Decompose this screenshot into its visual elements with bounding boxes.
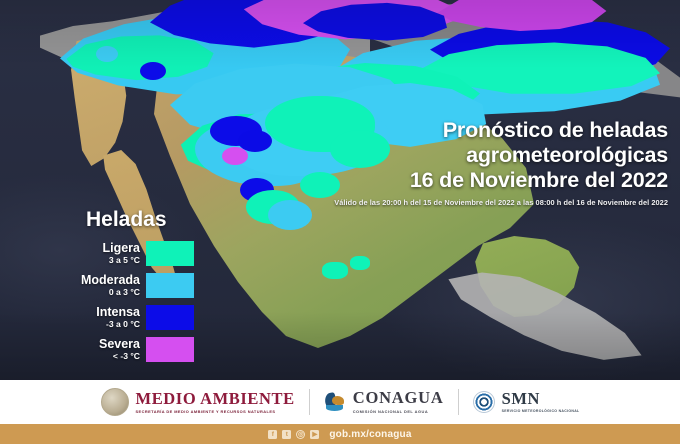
legend-swatch-ligera bbox=[146, 241, 194, 266]
frost-zone-ligera bbox=[350, 256, 370, 270]
legend-swatch-moderada bbox=[146, 273, 194, 298]
logo-subtitle: SECRETARÍA DE MEDIO AMBIENTE Y RECURSOS … bbox=[136, 410, 295, 414]
frost-zone-severa bbox=[222, 147, 248, 165]
infographic-root: Pronóstico de heladas agrometeorológicas… bbox=[0, 0, 680, 444]
logo-conagua[interactable]: CONAGUA COMISIÓN NACIONAL DEL AGUA bbox=[310, 390, 458, 414]
logo-medio-ambiente[interactable]: MEDIO AMBIENTE SECRETARÍA DE MEDIO AMBIE… bbox=[87, 388, 309, 416]
forecast-title-block: Pronóstico de heladas agrometeorológicas… bbox=[328, 118, 668, 207]
legend-item-ligera: Ligera 3 a 5 °C bbox=[62, 241, 194, 266]
website-url[interactable]: gob.mx/conagua bbox=[329, 429, 411, 440]
legend-range: < -3 °C bbox=[62, 351, 140, 361]
conagua-water-icon bbox=[324, 391, 346, 413]
legend-item-intensa: Intensa -3 a 0 °C bbox=[62, 305, 194, 330]
legend-range: -3 a 0 °C bbox=[62, 319, 140, 329]
title-line-1: Pronóstico de heladas bbox=[328, 118, 668, 143]
institutional-logo-bar: MEDIO AMBIENTE SECRETARÍA DE MEDIO AMBIE… bbox=[0, 380, 680, 424]
logo-title: SMN bbox=[502, 391, 580, 408]
title-date: 16 de Noviembre del 2022 bbox=[328, 168, 668, 193]
logo-title: MEDIO AMBIENTE bbox=[136, 391, 295, 408]
frost-zone-moderada bbox=[268, 200, 312, 230]
frost-zone-ligera bbox=[322, 262, 348, 279]
legend-range: 0 a 3 °C bbox=[62, 287, 140, 297]
social-media-bar: f t ◎ ▶ gob.mx/conagua bbox=[0, 424, 680, 444]
legend-label: Moderada bbox=[62, 274, 140, 287]
legend-range: 3 a 5 °C bbox=[62, 255, 140, 265]
legend-swatch-intensa bbox=[146, 305, 194, 330]
legend-swatch-severa bbox=[146, 337, 194, 362]
logo-subtitle: SERVICIO METEOROLÓGICO NACIONAL bbox=[502, 409, 580, 413]
frost-legend: Heladas Ligera 3 a 5 °C Moderada 0 a 3 °… bbox=[62, 208, 194, 369]
legend-label: Severa bbox=[62, 338, 140, 351]
legend-label: Ligera bbox=[62, 242, 140, 255]
legend-title: Heladas bbox=[86, 208, 194, 232]
legend-label: Intensa bbox=[62, 306, 140, 319]
instagram-icon[interactable]: ◎ bbox=[296, 430, 305, 439]
title-line-2: agrometeorológicas bbox=[328, 143, 668, 168]
mexican-eagle-seal-icon bbox=[101, 388, 129, 416]
legend-item-severa: Severa < -3 °C bbox=[62, 337, 194, 362]
youtube-icon[interactable]: ▶ bbox=[310, 430, 319, 439]
validity-text: Válido de las 20:00 h del 15 de Noviembr… bbox=[328, 198, 668, 207]
legend-item-moderada: Moderada 0 a 3 °C bbox=[62, 273, 194, 298]
frost-zone-intensa bbox=[140, 62, 166, 80]
twitter-icon[interactable]: t bbox=[282, 430, 291, 439]
frost-zone-moderada bbox=[96, 46, 118, 62]
facebook-icon[interactable]: f bbox=[268, 430, 277, 439]
logo-title: CONAGUA bbox=[353, 390, 444, 407]
smn-spiral-icon bbox=[473, 391, 495, 413]
logo-subtitle: COMISIÓN NACIONAL DEL AGUA bbox=[353, 409, 444, 414]
logo-smn[interactable]: SMN SERVICIO METEOROLÓGICO NACIONAL bbox=[459, 391, 594, 414]
